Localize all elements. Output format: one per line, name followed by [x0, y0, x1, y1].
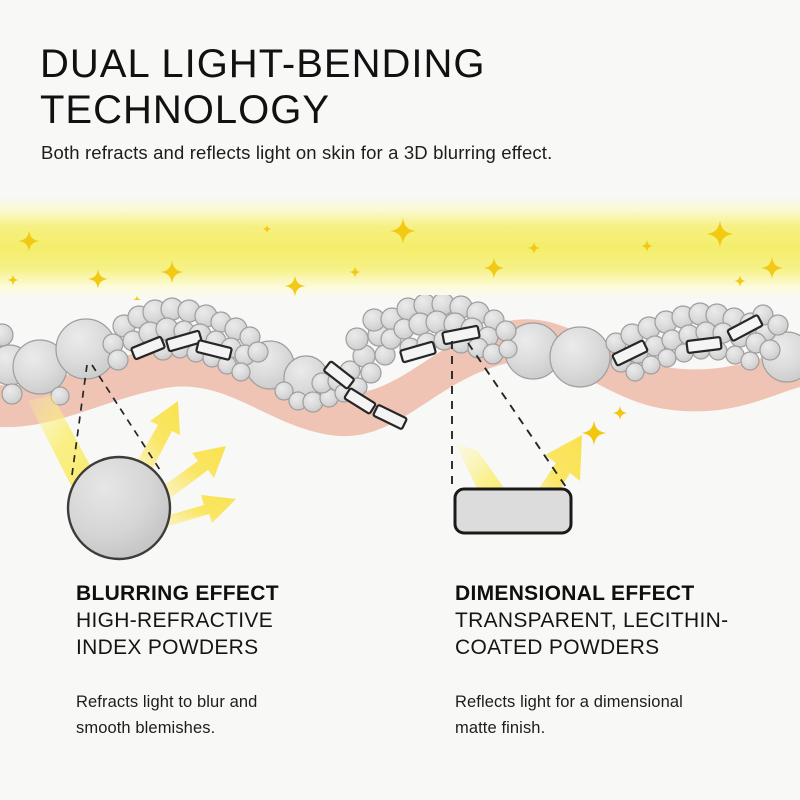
reflection-sparkles	[582, 406, 628, 446]
blurring-effect-description: Refracts light to blur and smooth blemis…	[76, 689, 431, 741]
sparkle-icon	[613, 406, 627, 420]
platelet	[686, 337, 721, 353]
lecithin-coated-platelet	[455, 489, 571, 533]
blurring-effect-heading: BLURRING EFFECT	[76, 580, 431, 607]
sparkle-icon	[582, 421, 607, 446]
infographic-page: DUAL LIGHT-BENDING TECHNOLOGY Both refra…	[0, 0, 800, 800]
page-subtitle: Both refracts and reflects light on skin…	[41, 142, 741, 164]
high-refractive-index-sphere	[68, 457, 170, 559]
blurring-effect-column: BLURRING EFFECT HIGH-REFRACTIVE INDEX PO…	[76, 580, 431, 741]
band-gradient-fill	[0, 196, 800, 300]
powder-particle	[550, 327, 610, 387]
dimensional-effect-subheading: TRANSPARENT, LECITHIN- COATED POWDERS	[455, 607, 800, 661]
powder-particle	[0, 324, 13, 346]
light-bending-diagram	[0, 295, 800, 570]
blurring-effect-subheading: HIGH-REFRACTIVE INDEX POWDERS	[76, 607, 431, 661]
dimensional-effect-description: Reflects light for a dimensional matte f…	[455, 689, 800, 741]
dimensional-effect-heading: DIMENSIONAL EFFECT	[455, 580, 800, 607]
page-title: DUAL LIGHT-BENDING TECHNOLOGY	[40, 41, 600, 133]
dimensional-effect-column: DIMENSIONAL EFFECT TRANSPARENT, LECITHIN…	[455, 580, 800, 741]
light-beam-band	[0, 196, 800, 300]
powder-particle	[2, 384, 22, 404]
